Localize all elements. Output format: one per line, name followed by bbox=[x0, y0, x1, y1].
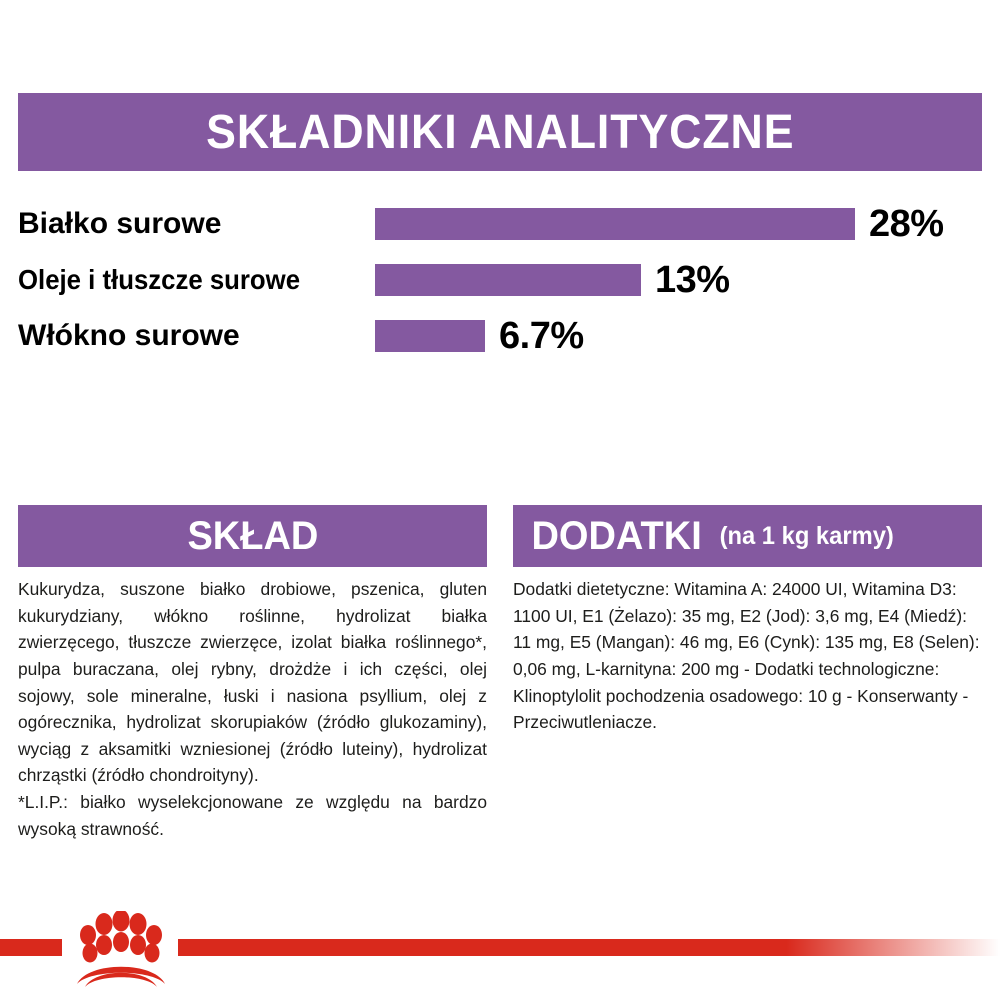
royal-canin-crown-icon bbox=[66, 911, 176, 989]
chart-row: Oleje i tłuszcze surowe 13% bbox=[18, 252, 982, 308]
additives-header-subtitle: (na 1 kg karmy) bbox=[720, 522, 894, 551]
chart-bar-track: 6.7% bbox=[375, 308, 584, 364]
analytical-constituents-chart: Białko surowe 28% Oleje i tłuszcze surow… bbox=[18, 196, 982, 364]
chart-row: Białko surowe 28% bbox=[18, 196, 982, 252]
chart-bar-value: 28% bbox=[869, 203, 944, 246]
chart-row: Włókno surowe 6.7% bbox=[18, 308, 982, 364]
composition-header: SKŁAD bbox=[18, 505, 487, 567]
chart-bar-fill bbox=[375, 208, 855, 240]
chart-bar-track: 13% bbox=[375, 252, 730, 308]
additives-body: Dodatki dietetyczne: Witamina A: 24000 U… bbox=[513, 576, 982, 736]
analytical-constituents-header: SKŁADNIKI ANALITYCZNE bbox=[18, 93, 982, 171]
additives-column: DODATKI (na 1 kg karmy) Dodatki dietetyc… bbox=[513, 505, 982, 842]
additives-header-title: DODATKI bbox=[531, 514, 701, 559]
analytical-constituents-title: SKŁADNIKI ANALITYCZNE bbox=[206, 105, 794, 160]
chart-bar-value: 13% bbox=[655, 259, 730, 302]
footer-rule-left bbox=[0, 939, 62, 956]
composition-column: SKŁAD Kukurydza, suszone białko drobiowe… bbox=[18, 505, 487, 842]
composition-footnote-text: *L.I.P.: białko wyselekcjonowane ze wzgl… bbox=[18, 789, 487, 842]
additives-text: Dodatki dietetyczne: Witamina A: 24000 U… bbox=[513, 576, 982, 736]
chart-row-label: Oleje i tłuszcze surowe bbox=[18, 264, 335, 296]
product-info-page: SKŁADNIKI ANALITYCZNE Białko surowe 28% … bbox=[0, 0, 1000, 1000]
chart-bar-track: 28% bbox=[375, 196, 944, 252]
chart-row-label: Włókno surowe bbox=[18, 319, 363, 353]
chart-row-label: Białko surowe bbox=[18, 207, 363, 241]
chart-bar-value: 6.7% bbox=[499, 315, 584, 358]
chart-bar-fill bbox=[375, 320, 485, 352]
additives-header: DODATKI (na 1 kg karmy) bbox=[513, 505, 982, 567]
composition-ingredients-text: Kukurydza, suszone białko drobiowe, psze… bbox=[18, 576, 487, 789]
chart-bar-fill bbox=[375, 264, 641, 296]
brand-footer bbox=[0, 895, 1000, 1000]
composition-header-title: SKŁAD bbox=[187, 514, 318, 559]
details-columns: SKŁAD Kukurydza, suszone białko drobiowe… bbox=[18, 505, 982, 842]
footer-rule-right bbox=[178, 939, 1000, 956]
composition-body: Kukurydza, suszone białko drobiowe, psze… bbox=[18, 576, 487, 842]
